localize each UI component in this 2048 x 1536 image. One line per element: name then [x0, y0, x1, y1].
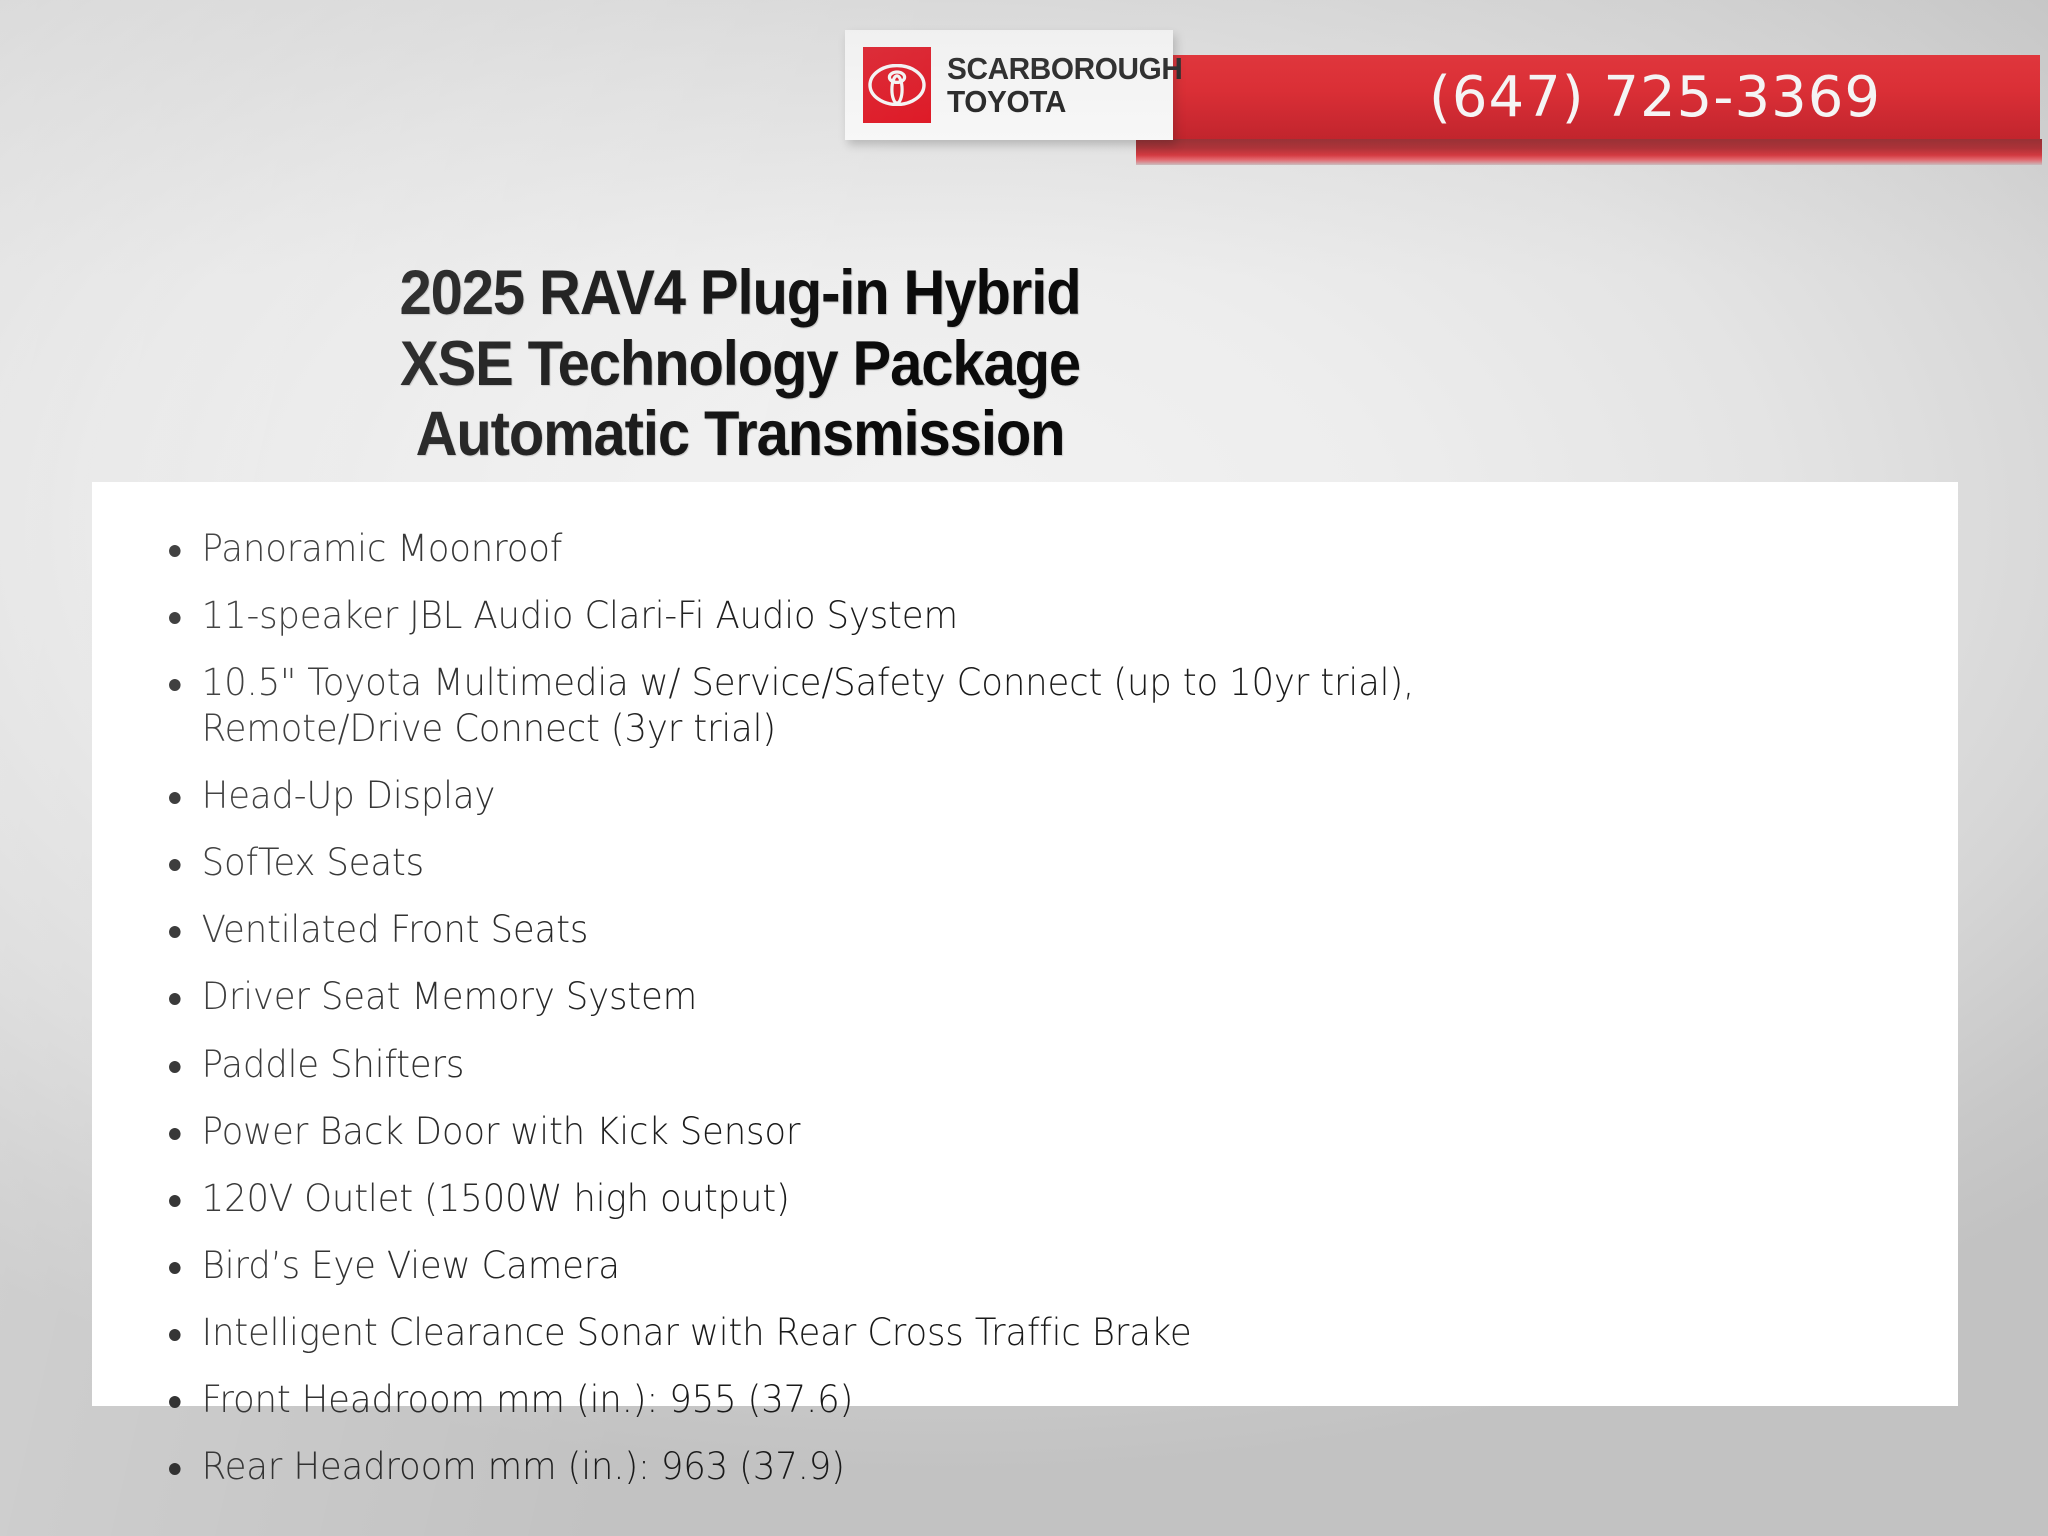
red-banner-shadow: [1136, 139, 2042, 165]
feature-list-item: 10.5" Toyota Multimedia w/ Service/Safet…: [146, 660, 1838, 752]
feature-list-item: 11-speaker JBL Audio Clari-Fi Audio Syst…: [146, 593, 1838, 639]
dealer-wordmark-line2: TOYOTA: [947, 86, 1183, 117]
vehicle-title: 2025 RAV4 Plug-in Hybrid XSE Technology …: [0, 258, 1480, 470]
dealer-logo-card[interactable]: SCARBOROUGH TOYOTA: [845, 30, 1173, 140]
feature-list-item: Intelligent Clearance Sonar with Rear Cr…: [146, 1310, 1838, 1356]
features-panel: Panoramic Moonroof11-speaker JBL Audio C…: [92, 482, 1958, 1406]
feature-list-item: Front Headroom mm (in.): 955 (37.6): [146, 1377, 1838, 1423]
dealer-wordmark-line1: SCARBOROUGH: [947, 53, 1183, 84]
feature-list: Panoramic Moonroof11-speaker JBL Audio C…: [146, 526, 1908, 1490]
vehicle-title-line3: Automatic Transmission: [59, 399, 1421, 470]
feature-list-item: Driver Seat Memory System: [146, 974, 1838, 1020]
feature-list-item: Panoramic Moonroof: [146, 526, 1838, 572]
feature-list-item: Ventilated Front Seats: [146, 907, 1838, 953]
slide-background: (647) 725-3369 SCARBOROUGH TOYOTA 2025 R…: [0, 0, 2048, 1536]
vehicle-title-line1: 2025 RAV4 Plug-in Hybrid: [59, 258, 1421, 329]
header-banner: (647) 725-3369 SCARBOROUGH TOYOTA: [0, 0, 2048, 200]
feature-list-item: Power Back Door with Kick Sensor: [146, 1109, 1838, 1155]
feature-list-item: Head-Up Display: [146, 773, 1838, 819]
feature-list-item: Paddle Shifters: [146, 1042, 1838, 1088]
vehicle-title-line2: XSE Technology Package: [59, 329, 1421, 400]
feature-list-item: Bird’s Eye View Camera: [146, 1243, 1838, 1289]
dealer-phone-number[interactable]: (647) 725-3369: [1120, 55, 2040, 139]
feature-list-item: 120V Outlet (1500W high output): [146, 1176, 1838, 1222]
toyota-emblem-icon: [863, 47, 931, 123]
dealer-wordmark: SCARBOROUGH TOYOTA: [947, 53, 1192, 117]
feature-list-item: Rear Headroom mm (in.): 963 (37.9): [146, 1444, 1838, 1490]
feature-list-item: SofTex Seats: [146, 840, 1838, 886]
